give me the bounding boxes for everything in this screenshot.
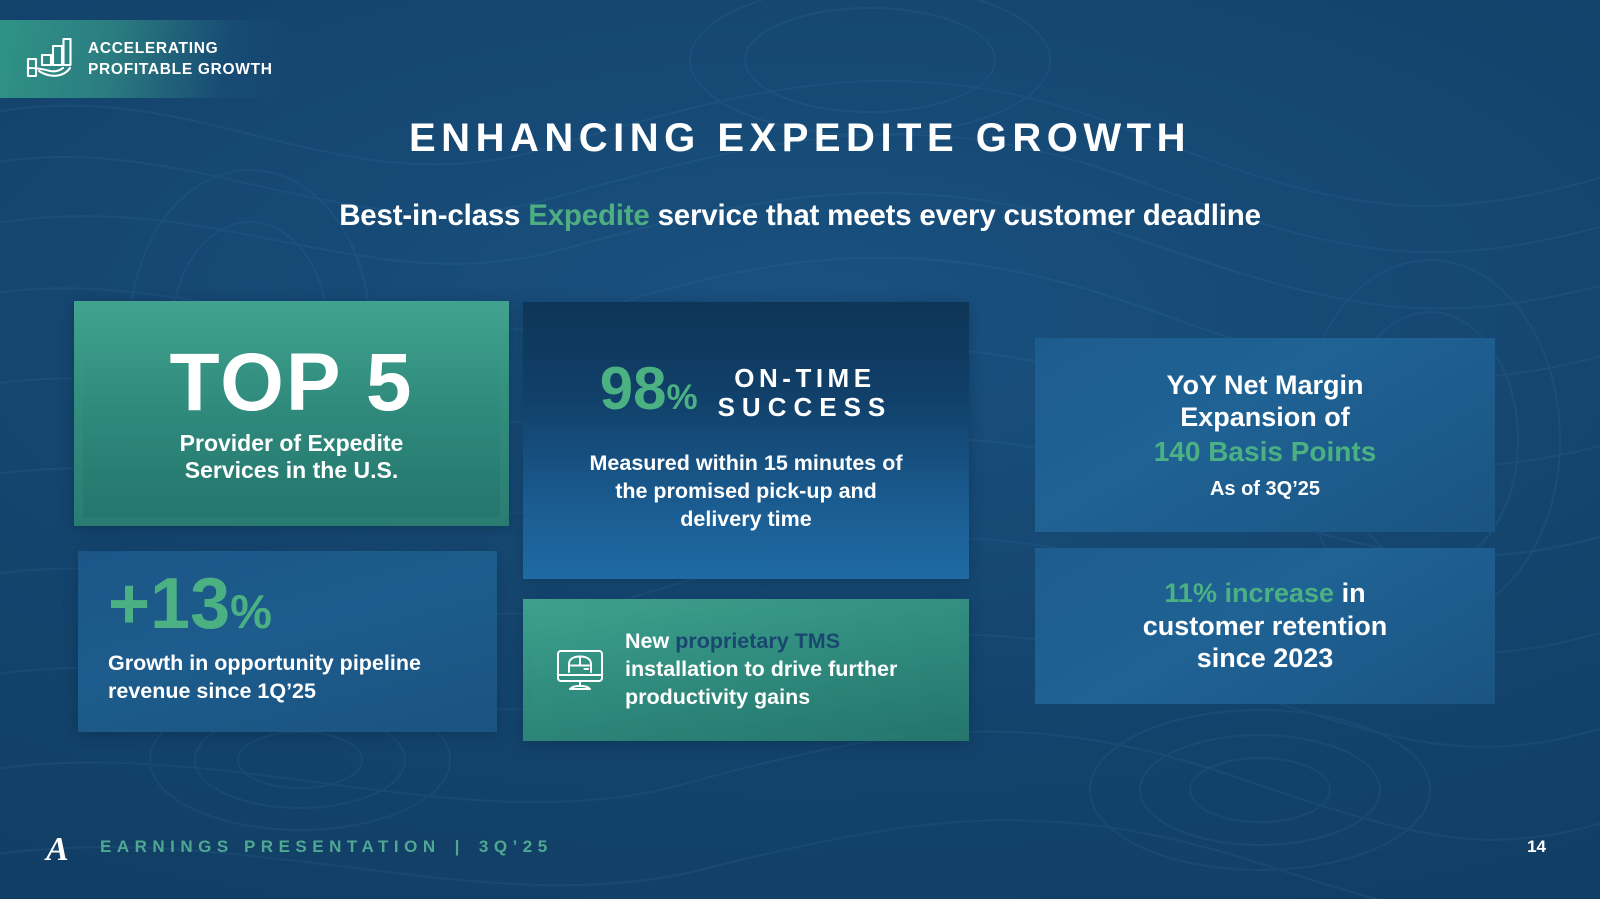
hand-holding-bar-chart-icon [26, 37, 72, 81]
page-subtitle: Best-in-class Expedite service that meet… [0, 199, 1600, 233]
stat-card-top5-inner: TOP 5 Provider of Expedite Services in t… [83, 310, 500, 517]
margin-line-1: YoY Net Margin [1166, 370, 1363, 400]
subtitle-after: service that meets every customer deadli… [650, 199, 1261, 232]
growth-description-line-2: revenue since 1Q’25 [108, 679, 316, 703]
stat-card-tms-inner: New proprietary TMS installation to driv… [531, 607, 961, 733]
stat-card-customer-retention: 11% increase incustomer retentionsince 2… [1035, 548, 1495, 704]
page-number: 14 [1527, 837, 1546, 857]
ontime-value: 98% [600, 360, 698, 417]
margin-line-2: Expansion of [1180, 402, 1350, 432]
stat-card-top5: TOP 5 Provider of Expedite Services in t… [74, 301, 509, 526]
growth-unit: % [230, 585, 272, 638]
ontime-number: 98 [600, 355, 667, 422]
footer: A EARNINGS PRESENTATION|3Q’25 14 [0, 807, 1600, 899]
tms-text: New proprietary TMS installation to driv… [625, 628, 943, 712]
section-badge-label: ACCELERATING PROFITABLE GROWTH [88, 38, 273, 81]
ontime-headline-row: 98% ON-TIME SUCCESS [600, 360, 893, 422]
margin-headline: YoY Net Margin Expansion of [1166, 369, 1363, 434]
growth-description: Growth in opportunity pipeline revenue s… [108, 650, 497, 705]
tms-text-after: installation to drive further productivi… [625, 657, 897, 709]
stat-card-net-margin: YoY Net Margin Expansion of 140 Basis Po… [1035, 338, 1495, 532]
footer-separator: | [441, 837, 479, 856]
page-title: ENHANCING EXPEDITE GROWTH [0, 116, 1600, 161]
margin-accent: 140 Basis Points [1154, 434, 1377, 470]
footer-quarter: 3Q’25 [479, 837, 553, 856]
tms-text-before: New [625, 629, 675, 653]
ontime-description: Measured within 15 minutes of the promis… [581, 450, 911, 534]
subtitle-accent: Expedite [528, 199, 649, 232]
top5-description-line-1: Provider of Expedite [180, 430, 404, 456]
growth-description-line-1: Growth in opportunity pipeline [108, 651, 421, 675]
retention-text: 11% increase incustomer retentionsince 2… [1143, 577, 1388, 674]
retention-rest-line-3: since 2023 [1197, 643, 1334, 673]
footer-label: EARNINGS PRESENTATION|3Q’25 [100, 837, 553, 857]
ontime-label-line-1: ON-TIME [734, 363, 875, 393]
retention-rest-line-2: customer retention [1143, 611, 1388, 641]
slide-canvas: ACCELERATING PROFITABLE GROWTH ENHANCING… [0, 0, 1600, 899]
footer-label-text: EARNINGS PRESENTATION [100, 837, 441, 856]
badge-line-2: PROFITABLE GROWTH [88, 61, 273, 78]
margin-footnote: As of 3Q’25 [1210, 478, 1320, 501]
ontime-label-line-2: SUCCESS [718, 393, 893, 422]
ontime-label: ON-TIME SUCCESS [718, 360, 893, 422]
top5-description: Provider of Expedite Services in the U.S… [180, 430, 404, 484]
monitor-truck-icon [555, 648, 605, 692]
retention-rest-line-1: in [1334, 578, 1366, 608]
growth-value: +13% [108, 573, 497, 636]
stat-card-pipeline-growth: +13% Growth in opportunity pipeline reve… [78, 551, 497, 732]
badge-line-1: ACCELERATING [88, 40, 218, 57]
ontime-unit: % [666, 378, 697, 417]
tms-text-accent: proprietary TMS [675, 629, 840, 653]
top5-headline: TOP 5 [170, 343, 414, 423]
company-logo: A [46, 831, 68, 869]
stat-card-tms: New proprietary TMS installation to driv… [523, 599, 969, 741]
stat-card-ontime-success: 98% ON-TIME SUCCESS Measured within 15 m… [523, 302, 969, 579]
growth-number: +13 [108, 564, 230, 644]
section-badge: ACCELERATING PROFITABLE GROWTH [0, 20, 288, 98]
retention-accent: 11% increase [1164, 578, 1334, 608]
top5-description-line-2: Services in the U.S. [185, 457, 398, 483]
subtitle-before: Best-in-class [339, 199, 528, 232]
